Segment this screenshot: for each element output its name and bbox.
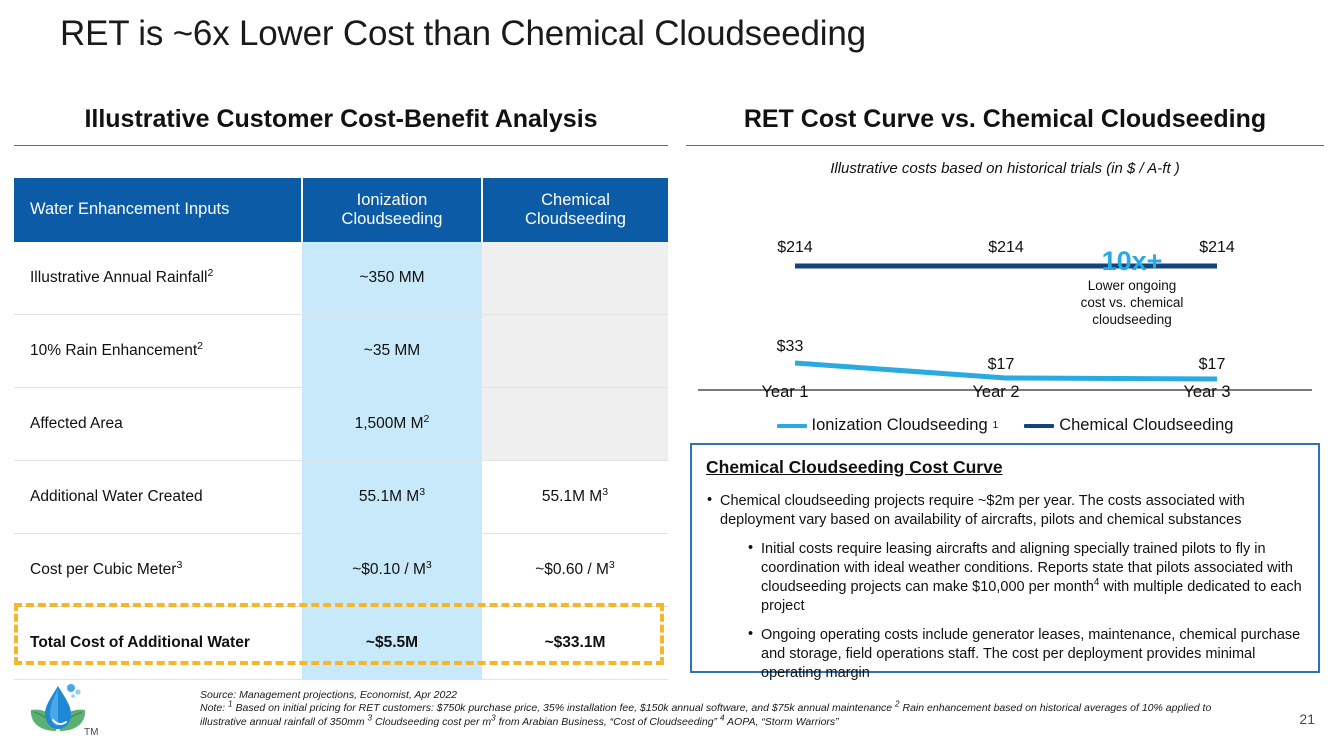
cell-chemical: [482, 388, 668, 461]
chart-subtitle: Illustrative costs based on historical t…: [690, 160, 1320, 177]
page-number: 21: [1299, 711, 1315, 727]
cell-chemical: ~$0.60 / M3: [482, 534, 668, 607]
row-label-text: Cost per Cubic Meter: [30, 561, 176, 578]
table-header-row: Water Enhancement Inputs Ionization Clou…: [14, 178, 668, 242]
row-label-footnote: 2: [197, 340, 203, 352]
x-axis-label-year3: Year 3: [1147, 383, 1267, 402]
chart-annotation-line3: cloudseeding: [1092, 312, 1172, 327]
chart-svg: $214 $214 $214 $33 $17 $17: [690, 194, 1320, 409]
cell-ionization: ~$0.10 / M3: [302, 534, 482, 607]
data-label-ionization-year1: $33: [777, 338, 804, 355]
right-panel-heading: RET Cost Curve vs. Chemical Cloudseeding: [690, 105, 1320, 134]
cell-ionization-value: 55.1M M: [359, 488, 419, 505]
legend-label-chemical: Chemical Cloudseeding: [1059, 416, 1233, 435]
column-header-ionization-line1: Ionization: [357, 191, 428, 209]
column-header-chemical-line1: Chemical: [541, 191, 610, 209]
cell-chemical: [482, 315, 668, 388]
column-header-chemical-line2: Cloudseeding: [525, 210, 626, 228]
callout-sub-bullet: Initial costs require leasing aircrafts …: [748, 540, 1304, 617]
cell-chemical-total: ~$33.1M: [482, 607, 668, 680]
row-label-text: 10% Rain Enhancement: [30, 342, 197, 359]
x-axis-label-year2: Year 2: [936, 383, 1056, 402]
footnote-note-prefix: Note:: [200, 702, 228, 714]
chart-annotation-headline: 10x+: [1047, 247, 1217, 275]
row-label-footnote: 3: [176, 559, 182, 571]
chart-legend: Ionization Cloudseeding 1 Chemical Cloud…: [690, 416, 1320, 435]
row-label-text: Additional Water Created: [30, 488, 203, 505]
left-panel-heading: Illustrative Customer Cost-Benefit Analy…: [14, 105, 668, 134]
data-label-ionization-year2: $17: [988, 356, 1015, 373]
row-label: Illustrative Annual Rainfall2: [14, 242, 302, 315]
cell-ionization: ~350 MM: [302, 242, 482, 315]
slide: RET is ~6x Lower Cost than Chemical Clou…: [0, 0, 1333, 749]
footnote-note-c: Cloudseeding cost per m: [372, 716, 491, 728]
footnote-note: Note: 1 Based on initial pricing for RET…: [200, 702, 1260, 729]
row-label: Additional Water Created: [14, 461, 302, 534]
column-header-inputs-label: Water Enhancement Inputs: [30, 200, 229, 218]
right-panel-divider: [686, 145, 1324, 146]
legend-item-ionization: Ionization Cloudseeding 1: [777, 416, 999, 435]
cell-chemical-value: 55.1M M: [542, 488, 602, 505]
callout-sub-bullet-list: Initial costs require leasing aircrafts …: [706, 540, 1304, 684]
column-header-ionization: Ionization Cloudseeding: [302, 178, 482, 242]
data-label-chemical-year2: $214: [988, 239, 1024, 256]
callout-bullet-list: Chemical cloudseeding projects require ~…: [706, 492, 1304, 531]
x-axis-label-year1: Year 1: [725, 383, 845, 402]
row-label-text: Illustrative Annual Rainfall: [30, 269, 208, 286]
footnote-source: Source: Management projections, Economis…: [200, 689, 1260, 702]
cost-benefit-table-wrapper: Water Enhancement Inputs Ionization Clou…: [14, 178, 668, 680]
svg-text:TM: TM: [84, 727, 98, 738]
legend-swatch-ionization-icon: [777, 424, 807, 428]
table-row-total: Total Cost of Additional Water ~$5.5M ~$…: [14, 607, 668, 680]
column-header-chemical: Chemical Cloudseeding: [482, 178, 668, 242]
company-logo: TM: [26, 679, 100, 739]
cell-chemical: [482, 242, 668, 315]
cell-ionization: 55.1M M3: [302, 461, 482, 534]
chart-annotation-line2: cost vs. chemical: [1081, 295, 1184, 310]
row-label: 10% Rain Enhancement2: [14, 315, 302, 388]
chart-x-axis-labels: Year 1 Year 2 Year 3: [690, 383, 1320, 407]
row-label-total: Total Cost of Additional Water: [14, 607, 302, 680]
legend-label-ionization: Ionization Cloudseeding: [812, 416, 988, 435]
cell-chemical-value: ~$0.60 / M: [535, 561, 609, 578]
page-title: RET is ~6x Lower Cost than Chemical Clou…: [60, 14, 866, 54]
cell-ionization-exponent: 3: [426, 559, 432, 571]
cell-ionization-exponent: 2: [424, 413, 430, 425]
chart-annotation-body: Lower ongoing cost vs. chemical cloudsee…: [1047, 278, 1217, 329]
callout-box: Chemical Cloudseeding Cost Curve Chemica…: [690, 443, 1320, 673]
table-row: Affected Area 1,500M M2: [14, 388, 668, 461]
legend-item-chemical: Chemical Cloudseeding: [1024, 416, 1233, 435]
table-row: Cost per Cubic Meter3 ~$0.10 / M3 ~$0.60…: [14, 534, 668, 607]
cell-ionization: ~35 MM: [302, 315, 482, 388]
row-label-text: Affected Area: [30, 415, 123, 432]
cost-benefit-table: Water Enhancement Inputs Ionization Clou…: [14, 178, 668, 680]
table-row: Illustrative Annual Rainfall2 ~350 MM: [14, 242, 668, 315]
footnote-note-a: Based on initial pricing for RET custome…: [233, 702, 895, 714]
chart-annotation: 10x+ Lower ongoing cost vs. chemical clo…: [1047, 247, 1217, 329]
legend-swatch-chemical-icon: [1024, 424, 1054, 428]
callout-bullet: Chemical cloudseeding projects require ~…: [706, 492, 1304, 531]
column-header-inputs: Water Enhancement Inputs: [14, 178, 302, 242]
data-label-ionization-year3: $17: [1199, 356, 1226, 373]
cell-ionization-value: ~$0.10 / M: [352, 561, 426, 578]
callout-title: Chemical Cloudseeding Cost Curve: [706, 457, 1304, 478]
row-label: Affected Area: [14, 388, 302, 461]
footnote-note-d: from Arabian Business, “Cost of Cloudsee…: [496, 716, 720, 728]
left-panel-divider: [14, 145, 668, 146]
row-label-footnote: 2: [208, 267, 214, 279]
table-row: Additional Water Created 55.1M M3 55.1M …: [14, 461, 668, 534]
cell-chemical-exponent: 3: [609, 559, 615, 571]
table-row: 10% Rain Enhancement2 ~35 MM: [14, 315, 668, 388]
cell-ionization: 1,500M M2: [302, 388, 482, 461]
chart-plot-area: $214 $214 $214 $33 $17 $17: [690, 194, 1320, 409]
data-label-chemical-year1: $214: [777, 239, 813, 256]
cell-chemical: 55.1M M3: [482, 461, 668, 534]
column-header-ionization-line2: Cloudseeding: [342, 210, 443, 228]
cell-ionization-value: 1,500M M: [355, 415, 424, 432]
cell-chemical-exponent: 3: [602, 486, 608, 498]
footnotes: Source: Management projections, Economis…: [200, 689, 1260, 729]
chart-annotation-line1: Lower ongoing: [1088, 278, 1177, 293]
water-droplet-leaf-logo-icon: TM: [26, 679, 100, 739]
footnote-note-e: AOPA, “Storm Warriors”: [725, 716, 839, 728]
row-label: Cost per Cubic Meter3: [14, 534, 302, 607]
cell-ionization-total: ~$5.5M: [302, 607, 482, 680]
callout-sub-bullet: Ongoing operating costs include generato…: [748, 626, 1304, 684]
cell-ionization-exponent: 3: [419, 486, 425, 498]
